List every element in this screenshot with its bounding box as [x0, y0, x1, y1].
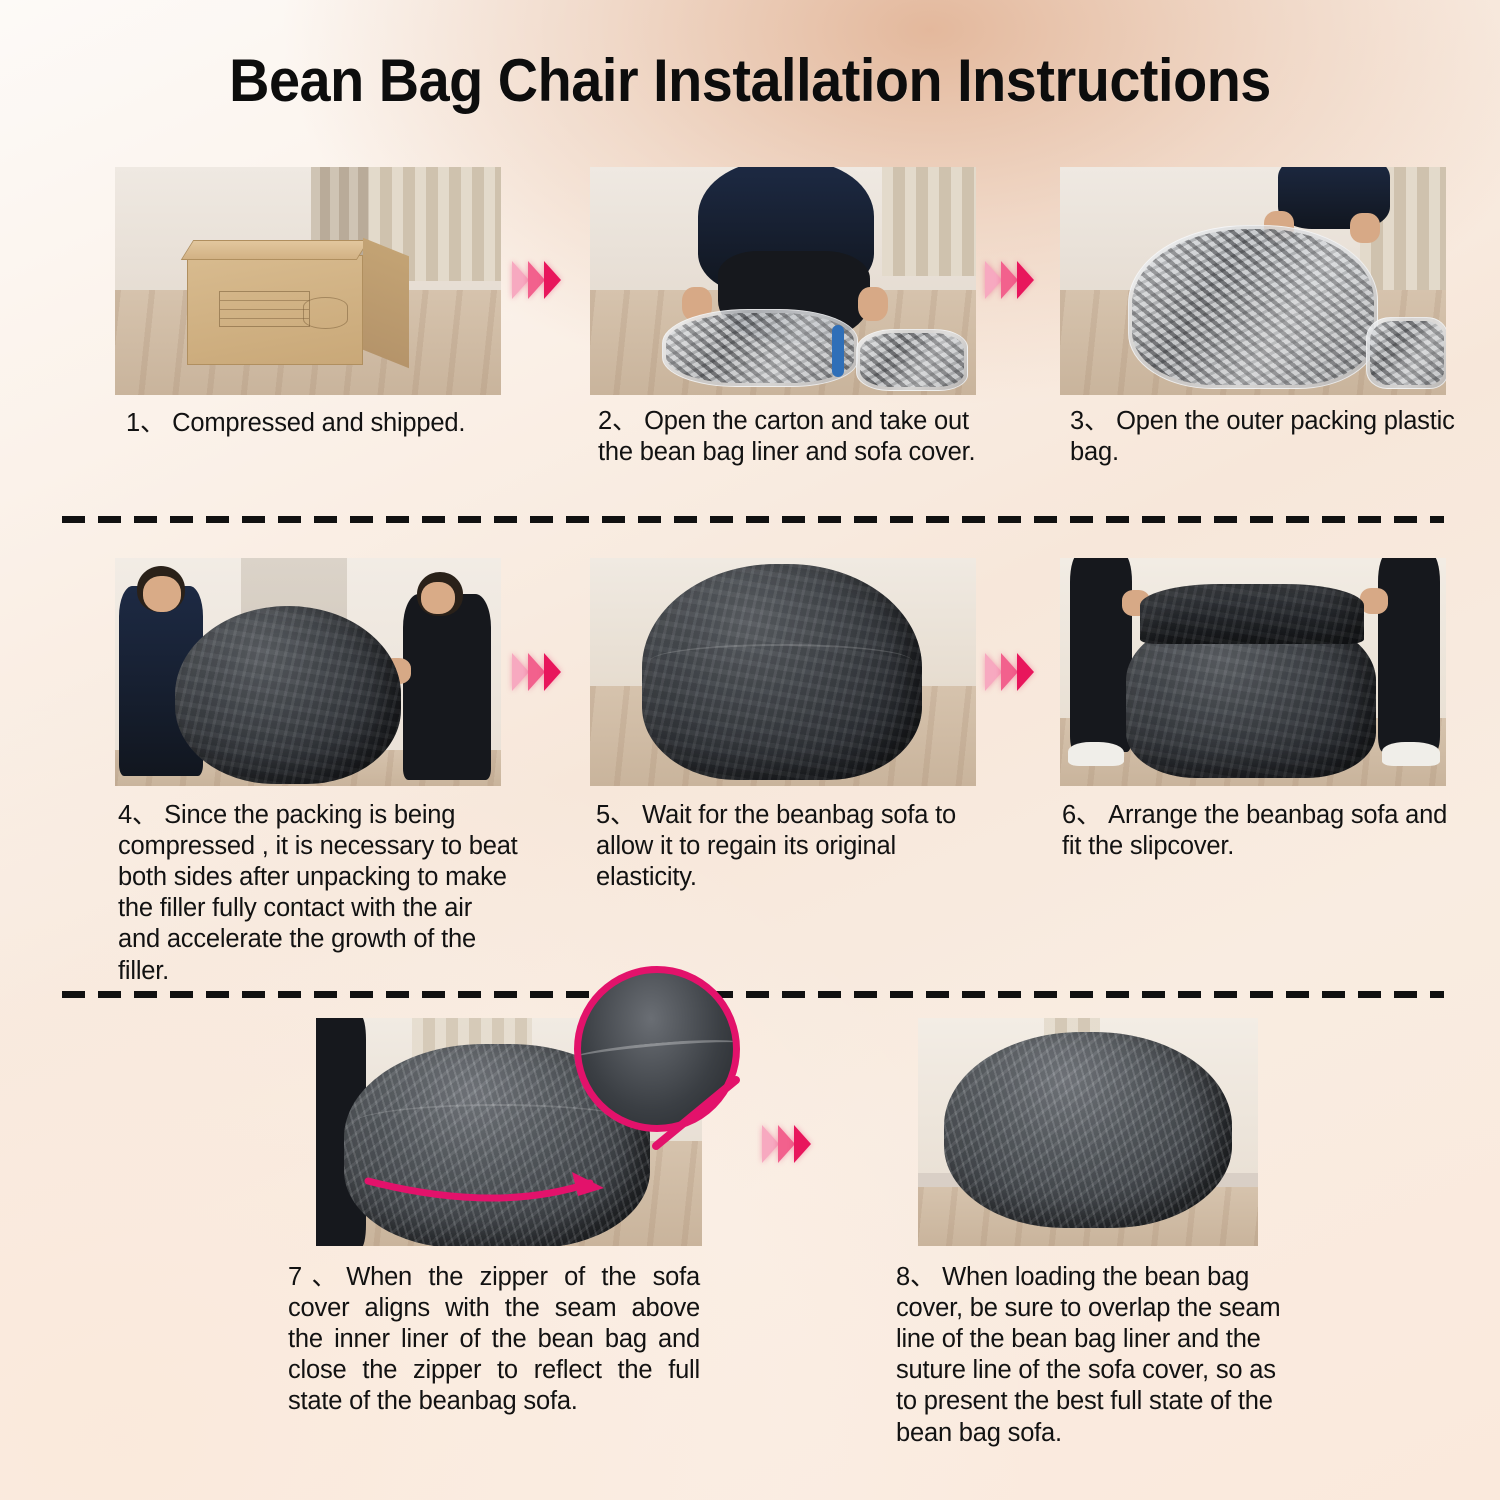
step-1-caption: 1、 Compressed and shipped. — [126, 408, 518, 439]
step-2-caption: 2、 Open the carton and take out the bean… — [598, 406, 994, 468]
hand-right — [1350, 213, 1380, 243]
step-3-photo — [1060, 167, 1446, 395]
dashed-divider-1 — [62, 516, 1444, 523]
person-left-face — [143, 576, 181, 612]
chevron-icon — [1001, 653, 1018, 691]
dashed-divider-2 — [62, 991, 1444, 998]
room-scene — [918, 1018, 1258, 1246]
room-scene — [1060, 167, 1446, 395]
room-scene — [590, 167, 976, 395]
chevron-icon — [1017, 653, 1034, 691]
zipper-path-line — [368, 1181, 590, 1198]
chevron-icon — [1017, 261, 1034, 299]
step-1-photo — [115, 167, 501, 395]
step-5-caption: 5、 Wait for the beanbag sofa to allow it… — [596, 800, 988, 893]
cardboard-box — [187, 255, 363, 365]
chevron-icon — [1001, 261, 1018, 299]
bean-bag-liner — [175, 606, 401, 784]
room-scene — [590, 558, 976, 786]
chevron-icon — [512, 653, 529, 691]
shoe-left — [1068, 742, 1124, 766]
step-4-photo — [115, 558, 501, 786]
chevron-icon — [528, 261, 545, 299]
room-scene — [115, 558, 501, 786]
step-6-caption: 6、 Arrange the beanbag sofa and fit the … — [1062, 800, 1454, 862]
hand-right — [1360, 588, 1388, 614]
step-4-caption: 4、 Since the packing is being compressed… — [118, 800, 518, 987]
step-5-photo — [590, 558, 976, 786]
box-shipping-label — [219, 291, 309, 328]
chevron-icon — [544, 653, 561, 691]
arrow-step-5-to-6 — [985, 653, 1033, 691]
chevron-icon — [762, 1125, 779, 1163]
chevron-icon — [985, 261, 1002, 299]
slipcover-being-fitted — [1140, 584, 1364, 644]
chevron-icon — [544, 261, 561, 299]
vacuum-bag-bundle — [1128, 225, 1378, 389]
person-right — [403, 594, 491, 780]
bean-bag-logo-icon — [303, 297, 348, 329]
vacuum-valve-icon — [832, 325, 844, 377]
vacuum-bag-secondary — [1366, 317, 1446, 389]
chevron-icon — [528, 653, 545, 691]
arrow-step-4-to-5 — [512, 653, 560, 691]
curtain — [882, 167, 976, 276]
shoe-right — [1382, 742, 1440, 766]
finished-bean-bag-sofa — [944, 1032, 1232, 1228]
arrow-step-2-to-3 — [985, 261, 1033, 299]
step-7-callout-pointer — [600, 1060, 760, 1190]
step-7-caption: 7、When the zipper of the sofa cover alig… — [288, 1262, 700, 1418]
page-title: Bean Bag Chair Installation Instructions — [53, 46, 1448, 115]
person-left — [1070, 558, 1132, 752]
vacuum-bag-small — [856, 329, 968, 391]
chevron-icon — [985, 653, 1002, 691]
step-2-photo — [590, 167, 976, 395]
vacuum-bag-large — [662, 309, 858, 387]
room-scene — [115, 167, 501, 395]
chevron-icon — [778, 1125, 795, 1163]
box-right-face — [363, 238, 409, 369]
person-right-face — [421, 582, 455, 614]
step-3-caption: 3、 Open the outer packing plastic bag. — [1070, 406, 1456, 468]
step-6-photo — [1060, 558, 1446, 786]
liner-seam — [650, 644, 912, 678]
arrow-step-1-to-2 — [512, 261, 560, 299]
chevron-icon — [794, 1125, 811, 1163]
arrow-step-7-to-8 — [762, 1125, 810, 1163]
chevron-icon — [512, 261, 529, 299]
person-right — [1378, 558, 1440, 752]
hand-right — [858, 287, 888, 321]
callout-pointer-line — [656, 1080, 736, 1146]
step-8-caption: 8、 When loading the bean bag cover, be s… — [896, 1262, 1296, 1449]
box-lid — [181, 240, 369, 260]
step-8-photo — [918, 1018, 1258, 1246]
room-scene — [1060, 558, 1446, 786]
